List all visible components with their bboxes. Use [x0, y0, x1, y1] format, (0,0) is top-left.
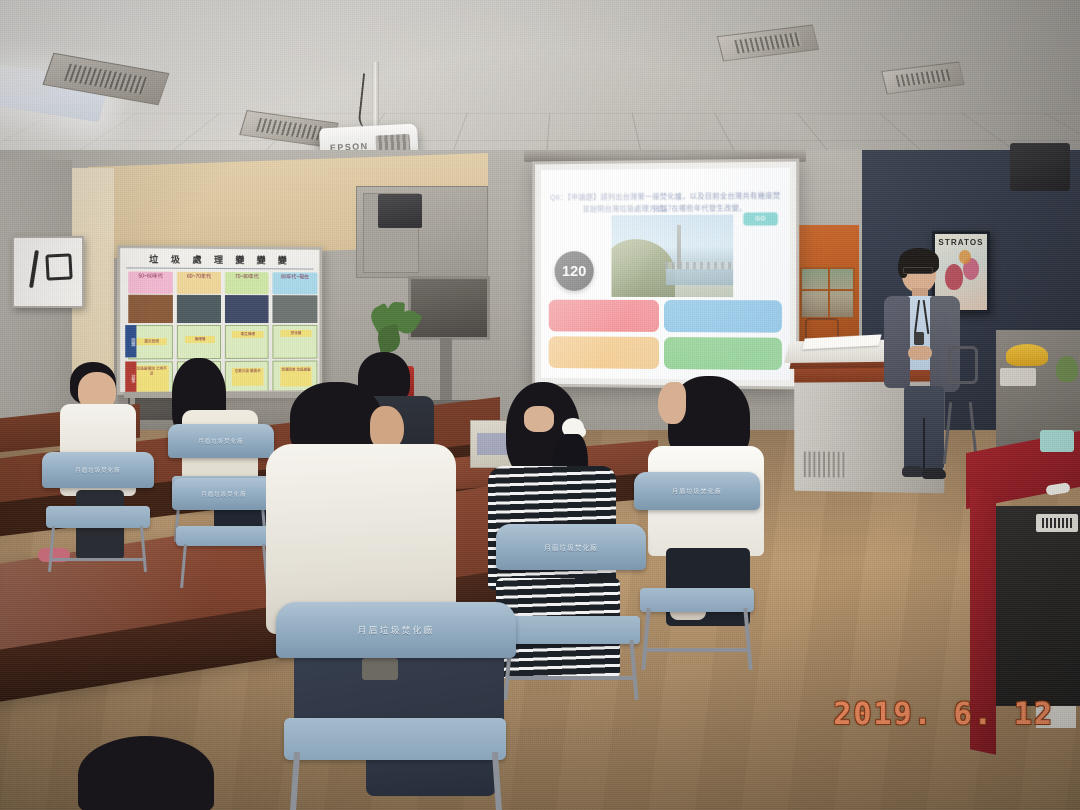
chair-crossbar: [508, 676, 634, 680]
chair-leg: [492, 752, 502, 810]
window-mullion: [828, 267, 830, 319]
chair-engraved-text: 月眉垃圾焚化廠: [198, 437, 243, 445]
computer-mouse-icon[interactable]: [1045, 482, 1070, 496]
board-photo-cell: [128, 295, 173, 323]
board-photo-cell: [272, 295, 317, 323]
presenter-leg-divide: [923, 418, 925, 470]
wall-speaker: [1010, 143, 1070, 191]
chair-seat: [46, 506, 150, 528]
calligraphy-stroke-icon: [45, 253, 72, 280]
chair-engraved-text: 月眉垃圾焚化廠: [201, 490, 246, 498]
chair-leg: [743, 608, 752, 670]
quiz-slide: Q6：【申論題】請列出台灣第一座焚化爐，以及目前全台灣共有幾座焚化爐？ 並說明台…: [541, 168, 790, 381]
answer-option-red[interactable]: [549, 300, 659, 332]
presenter-shoe: [902, 466, 924, 477]
board-photo-cell: [225, 295, 269, 323]
board-note: 露天焚燒: [136, 338, 166, 345]
chair-seat: [284, 718, 506, 760]
photograph-canvas: EPSON STRATOS: [0, 0, 1080, 810]
chair-backrest: 月眉垃圾焚化廠: [42, 452, 154, 488]
podium-vent-grille: [804, 451, 847, 477]
answer-option-blue[interactable]: [664, 300, 782, 333]
board-side-tab-problem: 問題: [125, 325, 136, 357]
chair-seat: [502, 616, 640, 644]
board-title: 垃 圾 處 理 變 變 變: [120, 252, 319, 267]
chair-engraved-text: 月眉垃圾焚化廠: [75, 466, 120, 474]
answer-option-green[interactable]: [664, 337, 782, 370]
chair-backrest: 月眉垃圾焚化廠: [496, 524, 646, 570]
chair-engraved-text: 月眉垃圾焚化廠: [357, 624, 434, 637]
chair-leg: [943, 402, 952, 464]
wall-speaker-left: [378, 194, 422, 228]
window-mullion: [800, 289, 855, 291]
chair-front[interactable]: 月眉垃圾焚化廠: [276, 602, 516, 810]
board-note: 衛生掩埋: [232, 331, 264, 338]
photo-water: [666, 269, 733, 285]
hard-hat-icon: [1006, 344, 1048, 366]
small-plant-icon: [1056, 356, 1078, 382]
person-hair: [78, 736, 214, 810]
chair-5[interactable]: 月眉垃圾焚化廠: [496, 524, 646, 684]
orange-wood-panel: [797, 225, 859, 350]
board-note: 焚化爐: [280, 330, 311, 337]
chair-leg: [290, 752, 300, 810]
chair-seat: [640, 588, 754, 612]
projection-screen: Q6：【申論題】請列出台灣第一座焚化爐，以及目前全台灣共有幾座焚化爐？ 並說明台…: [532, 159, 799, 390]
chair-6[interactable]: 月眉垃圾焚化廠: [634, 472, 760, 672]
board-column-header: 70~80年代: [225, 272, 269, 294]
glasses-icon: [903, 267, 933, 274]
chair-seat: [176, 526, 272, 546]
chair-leg: [140, 526, 147, 572]
framed-calligraphy: [12, 236, 84, 308]
equipment-label: [1036, 514, 1078, 532]
board-column-header: 60~70年代: [177, 272, 221, 294]
chair-backrest: 月眉垃圾焚化廠: [276, 602, 516, 658]
board-divider: [126, 267, 313, 269]
chair-crossbar: [646, 648, 750, 652]
chair-crossbar: [50, 558, 146, 561]
board-mid-cell: 焚化爐: [272, 325, 317, 359]
wall-cabinet-left: [356, 186, 488, 278]
chair-backrest: 月眉垃圾焚化廠: [168, 424, 274, 458]
chair-leg: [180, 544, 187, 588]
chair-backrest: [948, 346, 978, 384]
board-column-header: 50~60年代: [128, 271, 173, 293]
chair-backrest: 月眉垃圾焚化廠: [634, 472, 760, 510]
cabinet-box: [1000, 368, 1036, 386]
board-mid-cell: 衛生掩埋: [225, 325, 269, 359]
chair-engraved-text: 月眉垃圾焚化廠: [544, 542, 598, 552]
countdown-timer: 120: [555, 251, 594, 291]
tissue-pack: [1040, 430, 1074, 452]
board-column-header: 80年代~現在: [272, 272, 317, 294]
chair-backrest: 月眉垃圾焚化廠: [172, 478, 276, 510]
board-note: 掩埋場: [185, 336, 215, 343]
poster-title: STRATOS: [935, 238, 987, 247]
presenter-shoe: [922, 468, 946, 479]
board-photo-cell: [177, 295, 221, 323]
slide-go-badge[interactable]: GO: [743, 212, 778, 225]
camera-date-stamp: 2019. 6. 12: [833, 697, 1054, 732]
audience-person-7: [78, 736, 218, 810]
chair-1[interactable]: 月眉垃圾焚化廠: [42, 452, 154, 572]
person-face: [658, 382, 686, 424]
table-shelf: [994, 506, 1080, 706]
presenter-cardigan-left: [884, 296, 910, 388]
board-mid-cell: 掩埋場: [177, 325, 221, 359]
chair-3[interactable]: 月眉垃圾焚化廠: [172, 478, 276, 588]
answer-options: [549, 300, 782, 370]
calligraphy-stroke-icon: [29, 250, 39, 288]
person-neck: [524, 406, 554, 432]
chair-engraved-text: 月眉垃圾焚化廠: [672, 487, 722, 496]
id-badge: [914, 332, 924, 345]
chair-leg: [48, 526, 55, 572]
slide-photo: [611, 215, 733, 298]
presenter-hands: [908, 346, 932, 360]
answer-option-orange[interactable]: [549, 336, 659, 369]
photo-chimney-icon: [677, 225, 681, 269]
